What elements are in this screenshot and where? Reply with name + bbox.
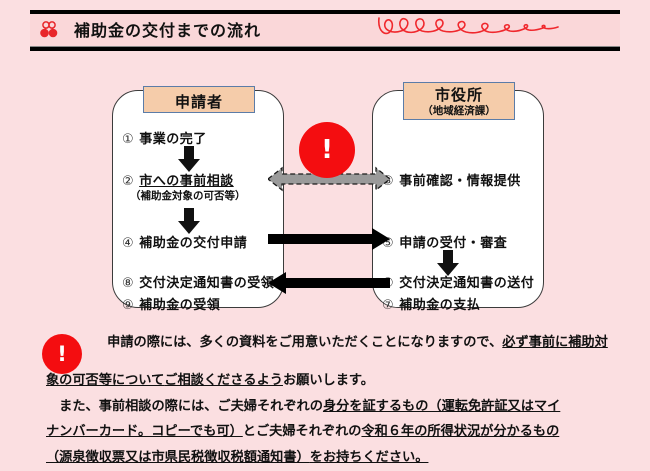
down-arrow-icon	[178, 146, 200, 172]
note-segment-underlined: （源泉徴収票又は市県民税徴収税額通知書）	[46, 450, 310, 465]
cityhall-panel-title: 市役所 （地域経済課）	[403, 82, 515, 120]
cityhall-subtitle-text: （地域経済課）	[404, 105, 514, 118]
note-section: ! 申請の際には、多くの資料をご用意いただくことになりますので、必ず事前に補助対…	[0, 326, 650, 466]
note-segment-underlined: 象の可否等について	[46, 373, 164, 388]
step-item-8: ⑧ 交付決定通知書の受領	[122, 272, 274, 291]
note-line-1: 申請の際には、多くの資料をご用意いただくことになりますので、必ず事前に補助対	[94, 330, 614, 356]
step-number: ④	[122, 236, 134, 251]
step-item-2: ② 市への事前相談	[122, 170, 234, 189]
note-segment: また、事前相談の際には、ご夫婦それぞれの	[46, 399, 323, 414]
note-segment-underlined: 令和６年の所得状況が分かるもの	[361, 424, 559, 439]
step-label: 申請の受付・審査	[399, 236, 507, 251]
application-arrow-right	[268, 228, 390, 250]
header-rule-bottom	[30, 46, 620, 51]
step-item-3: ③ 事前確認・情報提供	[382, 170, 521, 189]
step-label: 補助金の受領	[139, 298, 220, 313]
note-segment-underlined: 身分を証するもの（運転免許証又はマイ	[323, 399, 560, 414]
step-label: 交付決定通知書の送付	[399, 276, 534, 291]
step-item-7: ⑦ 補助金の支払	[382, 294, 480, 313]
step-number: ②	[122, 174, 134, 189]
step-number: ①	[122, 132, 134, 147]
step-item-5: ⑤ 申請の受付・審査	[382, 232, 507, 251]
note-segment-underlined: ご相談くださるよう	[164, 373, 283, 388]
flow-diagram: 申請者 市役所 （地域経済課） ① 事業の完了 ② 市への事前相談 （補助金対象…	[0, 60, 650, 320]
step-item-6: ⑥ 交付決定通知書の送付	[382, 272, 534, 291]
note-alert-glyph: !	[57, 344, 67, 365]
step-label: 交付決定通知書の受領	[139, 276, 274, 291]
note-segment: お願いします。	[283, 373, 374, 388]
note-segment-underlined: をお持ちください。	[310, 450, 429, 465]
page-title: 補助金の交付までの流れ	[74, 17, 261, 41]
cityhall-title-text: 市役所	[404, 86, 514, 105]
step-number: ⑧	[122, 276, 134, 291]
note-segment: 申請の際には、多くの資料をご用意いただくことになりますので、	[94, 335, 502, 350]
down-arrow-icon	[178, 208, 200, 234]
cherry-blossom-icon	[38, 19, 60, 41]
step-label: 市への事前相談	[139, 174, 234, 189]
step-item-9: ⑨ 補助金の受領	[122, 294, 220, 313]
note-text-block: 申請の際には、多くの資料をご用意いただくことになりますので、必ず事前に補助対	[94, 330, 614, 356]
applicant-title-text: 申請者	[144, 91, 254, 112]
note-segment: とご夫婦それぞれの	[243, 424, 362, 439]
note-segment-underlined: ナンバーカード。コピーでも可）	[46, 424, 243, 439]
page-header: 補助金の交付までの流れ	[30, 10, 620, 50]
note-segment-underlined: 必ず事前に補助対	[502, 335, 608, 350]
step-item-1: ① 事業の完了	[122, 128, 207, 147]
step-label: 事前確認・情報提供	[399, 174, 521, 189]
alert-exclamation-icon: !	[299, 122, 355, 178]
note-line-5: （源泉徴収票又は市県民税徴収税額通知書）をお持ちください。	[46, 445, 626, 471]
note-line-4: ナンバーカード。コピーでも可）とご夫婦それぞれの令和６年の所得状況が分かるもの	[46, 419, 626, 445]
step-item-4: ④ 補助金の交付申請	[122, 232, 247, 251]
payment-arrow-left	[268, 272, 390, 294]
applicant-panel-title: 申請者	[143, 86, 255, 113]
step-label: 事業の完了	[139, 132, 207, 147]
step-label: 補助金の交付申請	[139, 236, 247, 251]
red-loop-squiggle-decoration	[375, 12, 575, 42]
step-label: 補助金の支払	[399, 298, 480, 313]
step-number: ⑦	[382, 298, 394, 313]
step-number: ⑨	[122, 298, 134, 313]
step-item-2-note: （補助金対象の可否等）	[130, 188, 246, 203]
note-line-2: 象の可否等についてご相談くださるようお願いします。	[46, 368, 626, 394]
alert-glyph: !	[321, 137, 333, 163]
note-text-block-rest: 象の可否等についてご相談くださるようお願いします。 また、事前相談の際には、ご夫…	[46, 368, 626, 471]
note-line-3: また、事前相談の際には、ご夫婦それぞれの身分を証するもの（運転免許証又はマイ	[46, 394, 626, 420]
